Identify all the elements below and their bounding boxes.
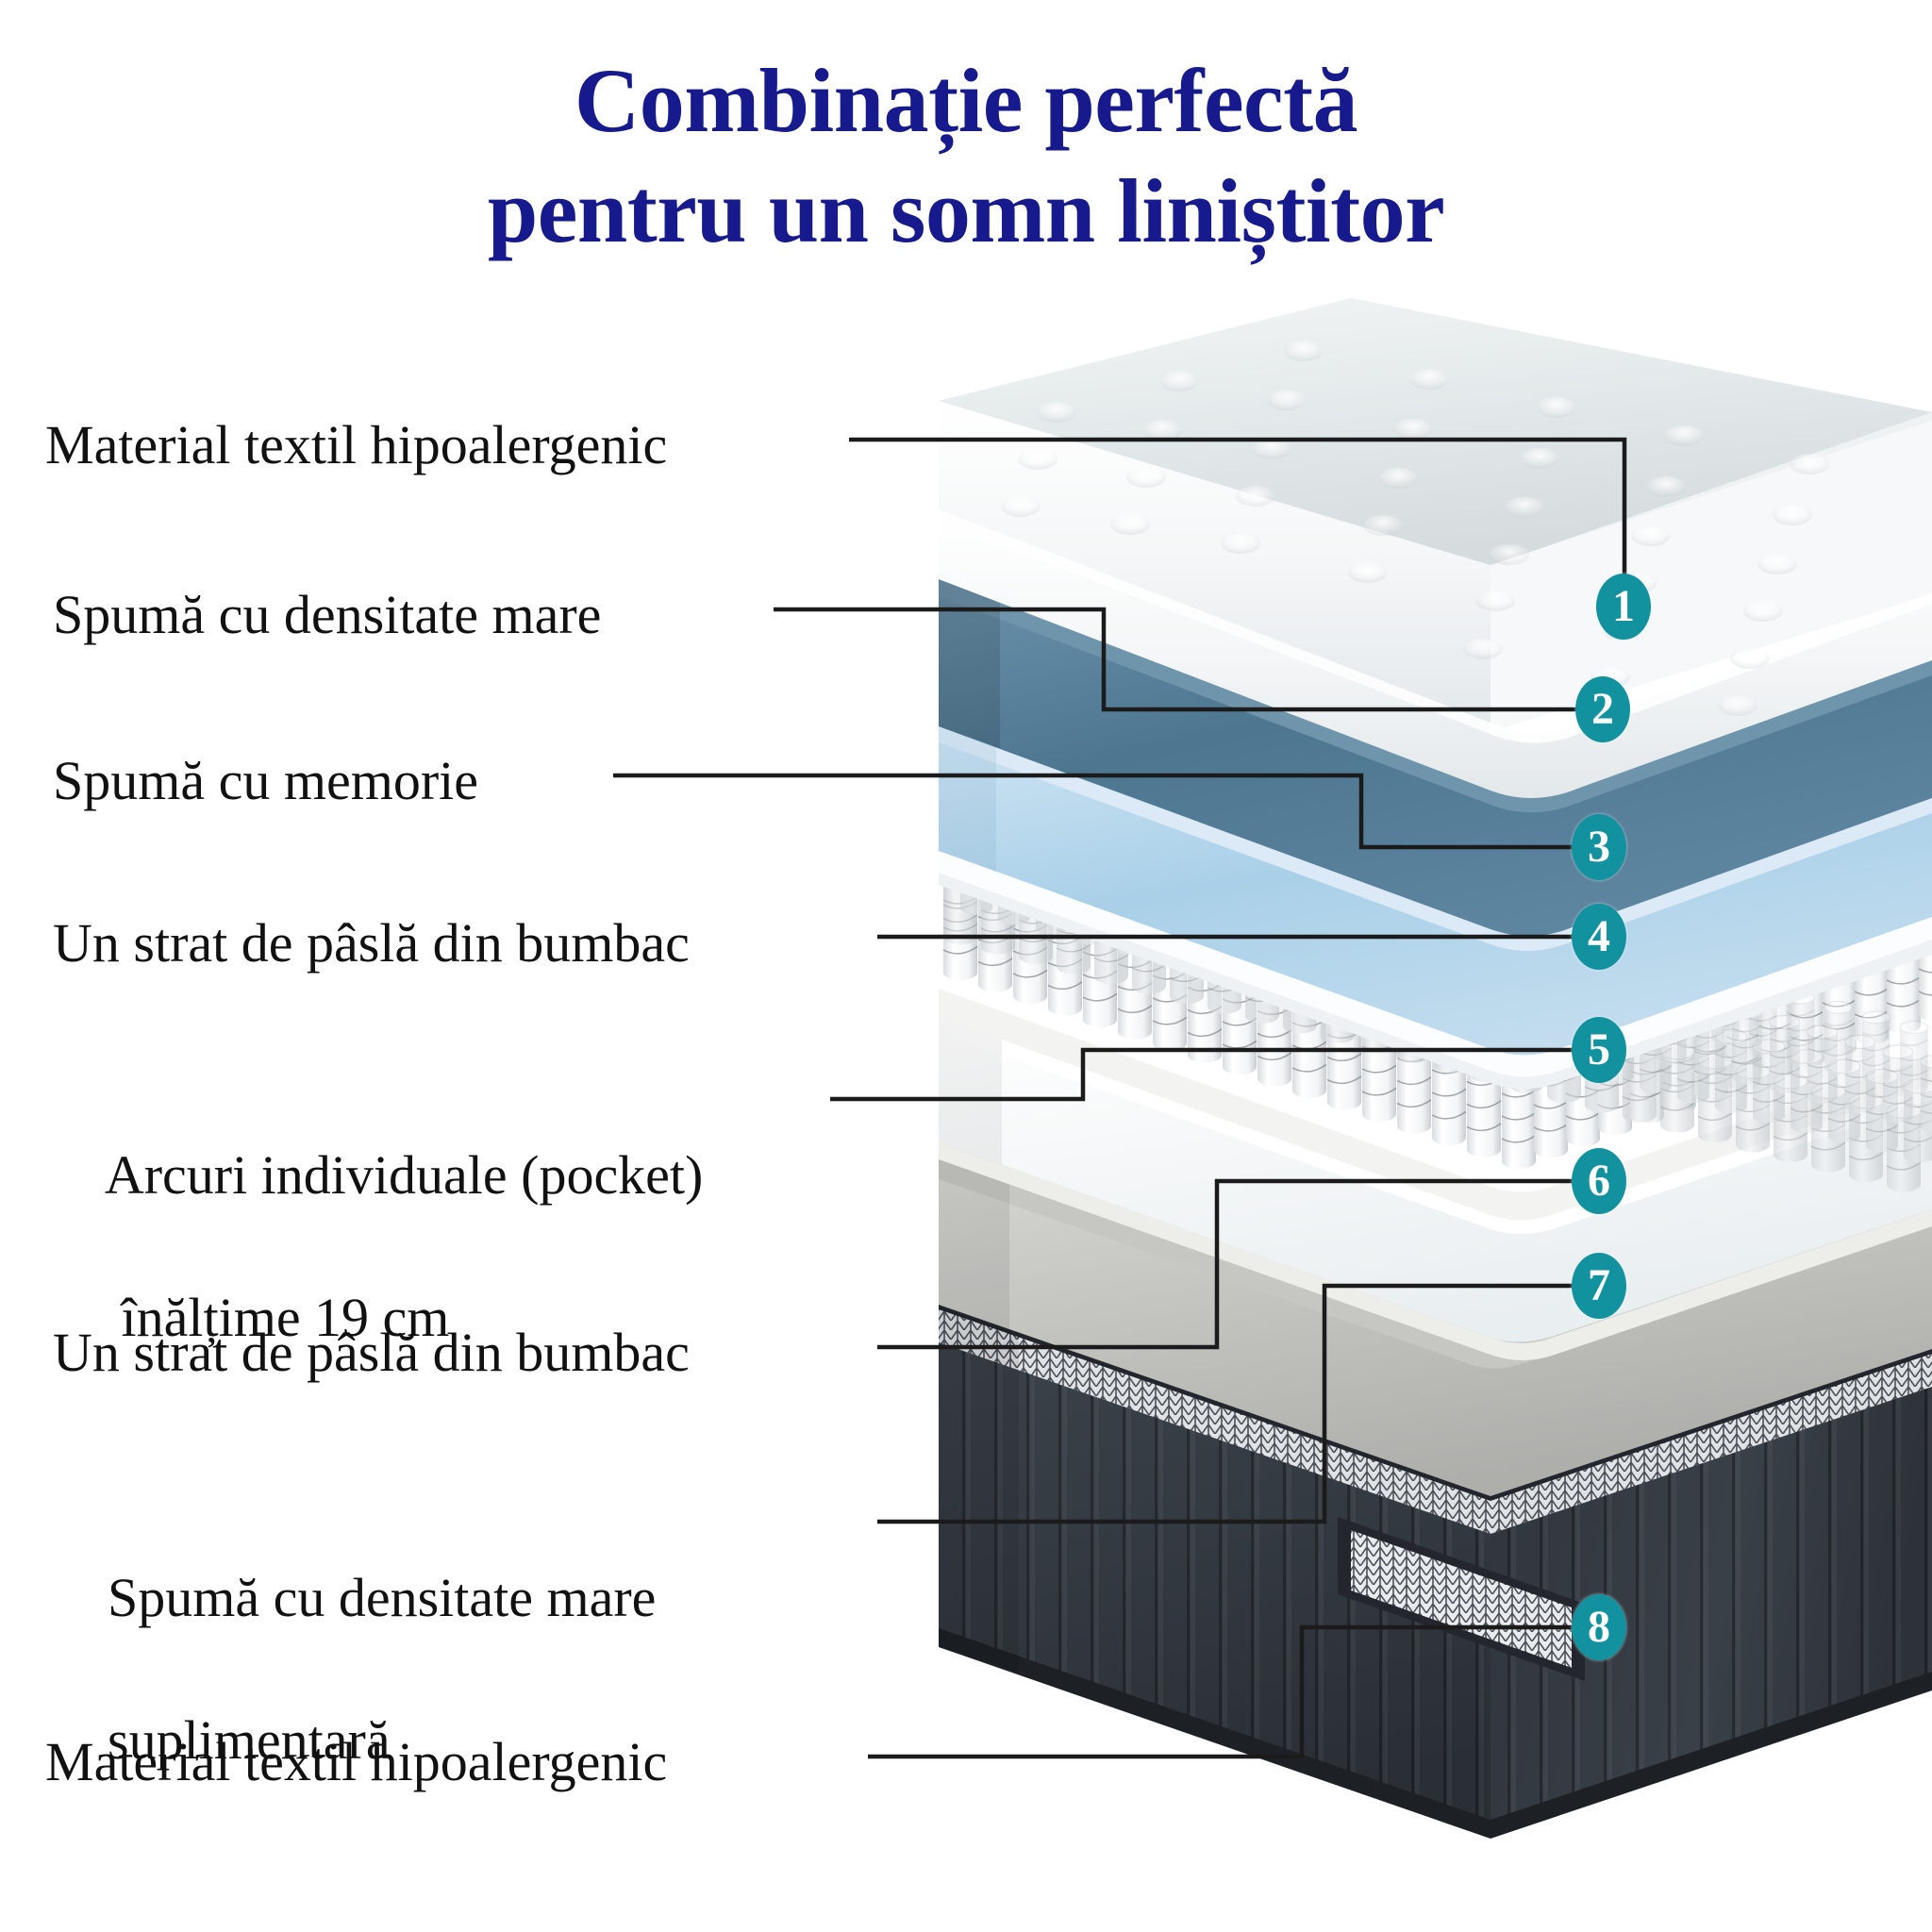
badge-7: 7 [1572, 1253, 1626, 1319]
label-7-line-1: Spumă cu densitate mare [108, 1567, 656, 1628]
badge-6: 6 [1572, 1148, 1626, 1214]
label-8: Material textil hipoalergenic [45, 1726, 667, 1797]
label-5-line-1: Arcuri individuale (pocket) [105, 1144, 704, 1206]
badge-8: 8 [1572, 1594, 1626, 1660]
badge-2: 2 [1575, 676, 1630, 742]
label-6: Un strat de pâslă din bumbac [53, 1317, 690, 1388]
badge-5: 5 [1572, 1017, 1626, 1083]
badge-3: 3 [1572, 814, 1626, 880]
label-2: Spumă cu densitate mare [53, 579, 601, 650]
badge-4: 4 [1572, 904, 1626, 970]
label-1: Material textil hipoalergenic [45, 409, 667, 480]
infographic-root: Combinație perfectă pentru un somn liniș… [0, 0, 1932, 1932]
label-3: Spumă cu memorie [53, 745, 478, 816]
label-4: Un strat de pâslă din bumbac [53, 908, 690, 978]
badge-1: 1 [1596, 574, 1651, 640]
